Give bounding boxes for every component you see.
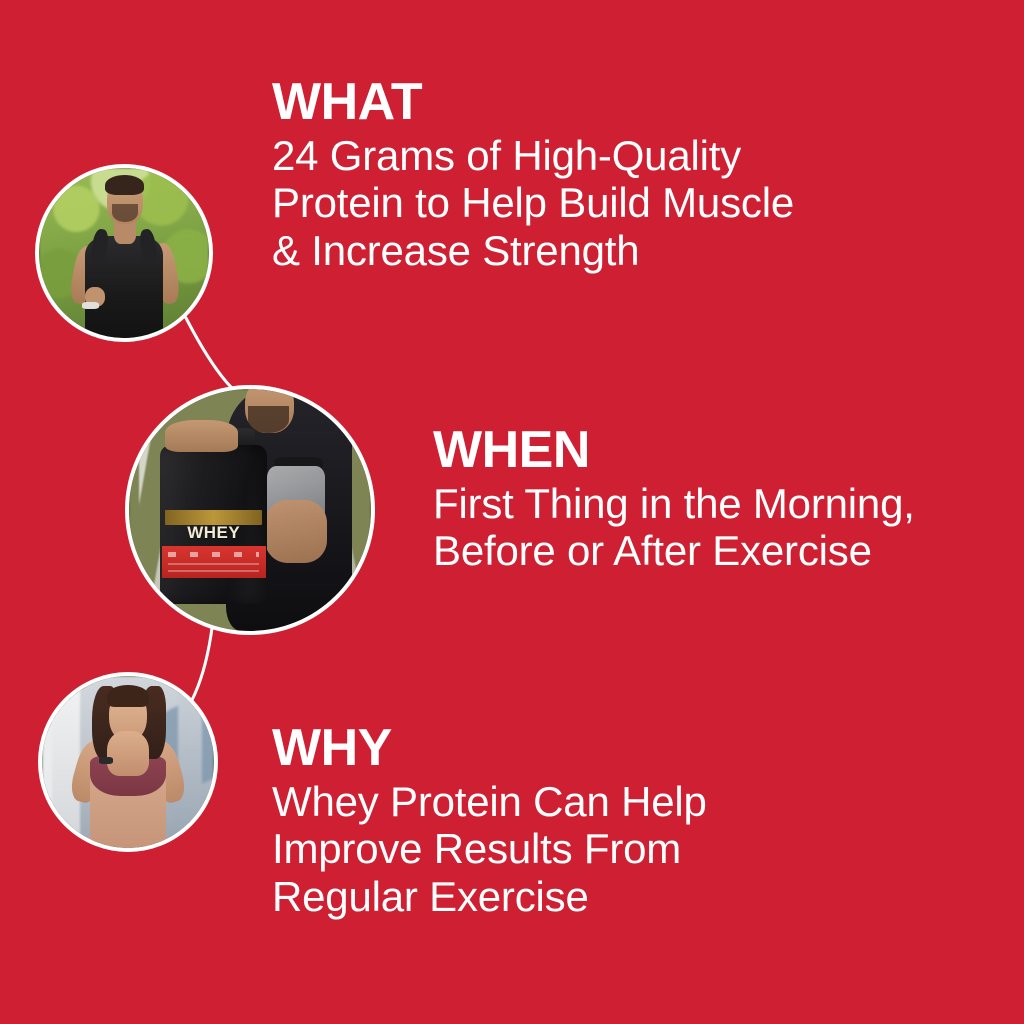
- tub-whey-wordmark: WHEY: [165, 522, 262, 544]
- why-line-3: Regular Exercise: [272, 873, 707, 920]
- why-line-2: Improve Results From: [272, 825, 707, 872]
- what-line-3: & Increase Strength: [272, 227, 794, 274]
- why-kicker: WHY: [272, 722, 707, 774]
- product-photo: WHEY: [125, 385, 375, 635]
- product-photo-inner: WHEY: [129, 389, 371, 631]
- what-kicker: WHAT: [272, 76, 794, 128]
- protein-infographic: WHEY WHAT 24 Grams of High-Quality Prote…: [0, 0, 1024, 1024]
- why-line-1: Whey Protein Can Help: [272, 778, 707, 825]
- person-beard: [248, 406, 289, 433]
- woman-photo: [38, 672, 218, 852]
- person-left-hand: [165, 420, 238, 451]
- woman-clasped-hands: [107, 731, 148, 776]
- runner-wristband: [82, 302, 99, 309]
- background-pillar-right: [178, 693, 202, 837]
- section-when: WHEN First Thing in the Morning, Before …: [433, 424, 915, 575]
- woman-photo-inner: [42, 676, 214, 848]
- runner-beard: [112, 204, 138, 223]
- runner-hair: [105, 175, 144, 195]
- runner-photo-inner: [39, 168, 209, 338]
- section-why: WHY Whey Protein Can Help Improve Result…: [272, 722, 707, 920]
- when-line-1: First Thing in the Morning,: [433, 480, 915, 527]
- when-kicker: WHEN: [433, 424, 915, 476]
- section-what: WHAT 24 Grams of High-Quality Protein to…: [272, 76, 794, 274]
- woman-hair-top: [107, 685, 148, 707]
- woman-wristband: [99, 757, 113, 764]
- when-line-2: Before or After Exercise: [433, 527, 915, 574]
- runner-photo: [35, 164, 213, 342]
- what-line-1: 24 Grams of High-Quality: [272, 132, 794, 179]
- person-right-hand: [265, 500, 328, 563]
- tub-red-label-band: [162, 546, 266, 577]
- what-line-2: Protein to Help Build Muscle: [272, 179, 794, 226]
